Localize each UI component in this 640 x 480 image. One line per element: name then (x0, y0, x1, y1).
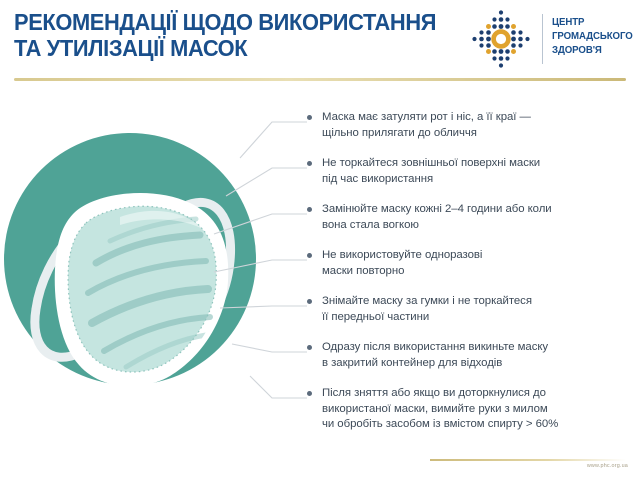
phc-logo-icon (470, 8, 532, 70)
bullet-icon (307, 207, 312, 212)
connector-lines (180, 100, 310, 430)
page-title: РЕКОМЕНДАЦІЇ ЩОДО ВИКОРИСТАННЯ ТА УТИЛІЗ… (14, 9, 464, 61)
bullet-icon (307, 161, 312, 166)
bullet-icon (307, 115, 312, 120)
logo-text-line-3: ЗДОРОВ'Я (552, 43, 629, 57)
list-item: Після зняття або якщо ви доторкнулися до… (322, 386, 640, 433)
logo-text-line-2: ГРОМАДСЬКОГО (552, 29, 629, 43)
logo-text-line-1: ЦЕНТР (552, 15, 629, 29)
list-item: Одразу після використання викиньте маску… (322, 340, 640, 371)
list-item-text: Знімайте маску за гумки і не торкайтеся … (322, 294, 640, 325)
list-item-line: Після зняття або якщо ви доторкнулися до (322, 386, 640, 402)
header: РЕКОМЕНДАЦІЇ ЩОДО ВИКОРИСТАННЯ ТА УТИЛІЗ… (0, 0, 640, 86)
list-item: Замінюйте маску кожні 2–4 години або кол… (322, 202, 640, 233)
page-title-line-2: ТА УТИЛІЗАЦІЇ МАСОК (14, 35, 442, 61)
list-item-line: чи обробіть засобом із вмістом спирту > … (322, 417, 640, 433)
list-item-line: маски повторно (322, 264, 640, 280)
page-title-line-1: РЕКОМЕНДАЦІЇ ЩОДО ВИКОРИСТАННЯ (14, 9, 442, 35)
header-divider (14, 78, 626, 81)
list-item-line: Не торкайтеся зовнішньої поверхні маски (322, 156, 640, 172)
list-item: Маска має затуляти рот і ніс, а її краї … (322, 110, 640, 141)
list-item-text: Замінюйте маску кожні 2–4 години або кол… (322, 202, 640, 233)
list-item-line: вона стала вогкою (322, 218, 640, 234)
bullet-icon (307, 299, 312, 304)
bullet-icon (307, 345, 312, 350)
bullet-icon (307, 253, 312, 258)
list-item: Не використовуйте одноразові маски повто… (322, 248, 640, 279)
list-item-line: Замінюйте маску кожні 2–4 години або кол… (322, 202, 640, 218)
logo-text: ЦЕНТР ГРОМАДСЬКОГО ЗДОРОВ'Я (552, 15, 636, 57)
list-item-text: Не торкайтеся зовнішньої поверхні маски … (322, 156, 640, 187)
list-item-line: під час використання (322, 172, 640, 188)
list-item-line: Знімайте маску за гумки і не торкайтеся (322, 294, 640, 310)
list-item-line: Маска має затуляти рот і ніс, а її краї … (322, 110, 640, 126)
list-item-line: використаної маски, вимийте руки з милом (322, 402, 640, 418)
list-item: Знімайте маску за гумки і не торкайтеся … (322, 294, 640, 325)
list-item-line: Одразу після використання викиньте маску (322, 340, 640, 356)
site-watermark: www.phc.org.ua (587, 463, 628, 469)
list-item-text: Після зняття або якщо ви доторкнулися до… (322, 386, 640, 433)
list-item-text: Маска має затуляти рот і ніс, а її краї … (322, 110, 640, 141)
list-item-line: Не використовуйте одноразові (322, 248, 640, 264)
list-item: Не торкайтеся зовнішньої поверхні маски … (322, 156, 640, 187)
organization-logo: ЦЕНТР ГРОМАДСЬКОГО ЗДОРОВ'Я (470, 8, 632, 70)
bullet-icon (307, 391, 312, 396)
footer-divider (430, 459, 626, 461)
logo-divider (542, 14, 543, 64)
list-item-line: її передньої частини (322, 310, 640, 326)
recommendations-list: Маска має затуляти рот і ніс, а її краї … (300, 100, 640, 450)
list-item-text: Не використовуйте одноразові маски повто… (322, 248, 640, 279)
list-item-text: Одразу після використання викиньте маску… (322, 340, 640, 371)
list-item-line: щільно прилягати до обличчя (322, 126, 640, 142)
list-item-line: в закритий контейнер для відходів (322, 356, 640, 372)
